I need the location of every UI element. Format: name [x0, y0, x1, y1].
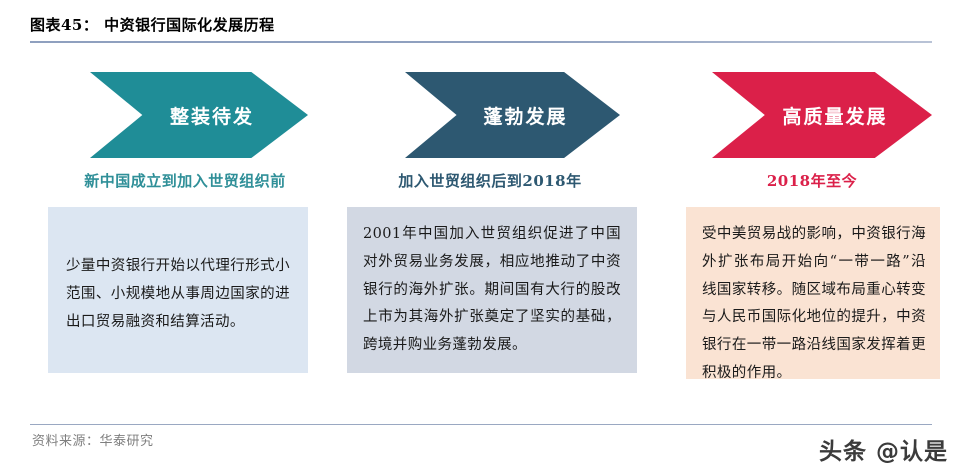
stage-2-banner-label: 蓬勃发展 [483, 102, 567, 129]
stage-3-period: 2018年至今 [676, 170, 956, 191]
chevron-shape-3: 高质量发展 [712, 72, 932, 158]
timeline-stages: 整装待发 新中国成立到加入世贸组织前 少量中资银行开始以代理行形式小范围、小规模… [0, 72, 962, 402]
chevron-shape-1: 整装待发 [90, 72, 308, 158]
stage-column-2: 蓬勃发展 加入世贸组织后到2018年 2001年中国加入世贸组织促进了中国对外贸… [347, 72, 647, 373]
stage-3-description: 受中美贸易战的影响，中资银行海外扩张布局开始向“一带一路”沿线国家转移。随区域布… [686, 207, 940, 379]
stage-column-1: 整装待发 新中国成立到加入世贸组织前 少量中资银行开始以代理行形式小范围、小规模… [48, 72, 348, 373]
figure-title-block: 图表45： 中资银行国际化发展历程 [30, 14, 932, 43]
stage-2-banner-wrap: 蓬勃发展 [347, 72, 647, 158]
stage-1-banner-wrap: 整装待发 [48, 72, 348, 158]
watermark-logo: 头条 @认是 [819, 432, 948, 466]
source-note: 资料来源：华泰研究 [32, 430, 154, 449]
stage-1-banner-label: 整装待发 [170, 102, 254, 129]
stage-1-description: 少量中资银行开始以代理行形式小范围、小规模地从事周边国家的进出口贸易融资和结算活… [48, 207, 308, 373]
stage-2-description: 2001年中国加入世贸组织促进了中国对外贸易业务发展，相应地推动了中资银行的海外… [347, 207, 637, 373]
stage-3-banner-label: 高质量发展 [782, 102, 887, 129]
footer-divider [30, 424, 932, 425]
stage-1-period: 新中国成立到加入世贸组织前 [48, 170, 348, 191]
stage-2-period: 加入世贸组织后到2018年 [347, 170, 647, 191]
stage-column-3: 高质量发展 2018年至今 受中美贸易战的影响，中资银行海外扩张布局开始向“一带… [676, 72, 956, 379]
page-title: 图表45： 中资银行国际化发展历程 [30, 14, 932, 35]
title-divider [30, 41, 932, 43]
chevron-shape-2: 蓬勃发展 [405, 72, 620, 158]
stage-3-banner-wrap: 高质量发展 [676, 72, 956, 158]
